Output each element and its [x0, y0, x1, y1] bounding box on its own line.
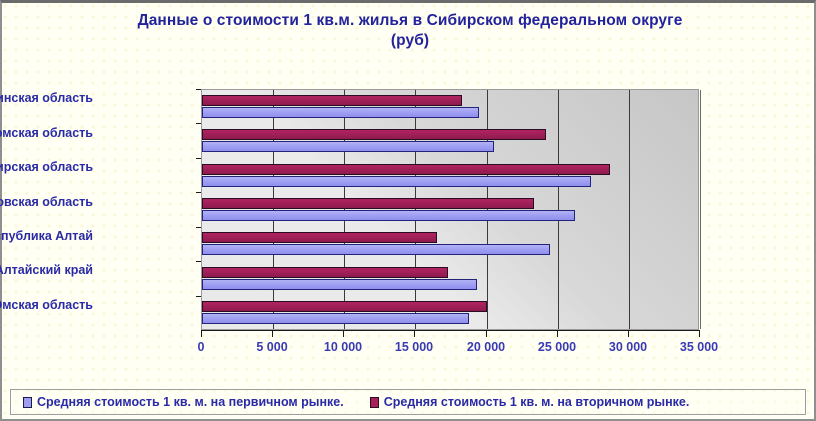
bar-secondary-1 — [202, 129, 546, 140]
category-tick — [196, 158, 201, 159]
chart-title: Данные о стоимости 1 кв.м. жилья в Сибир… — [2, 11, 816, 51]
bar-secondary-0 — [202, 95, 462, 106]
x-tick — [272, 330, 273, 337]
legend-item-primary: Средняя стоимость 1 кв. м. на первичном … — [23, 395, 344, 409]
category-tick — [196, 296, 201, 297]
x-tick — [201, 330, 202, 337]
category-label-text: Алтайский край — [0, 263, 93, 277]
x-tick — [628, 330, 629, 337]
x-tick-label-15000: 15 000 — [395, 340, 433, 354]
legend-swatch-secondary-icon — [370, 397, 379, 408]
category-tick — [196, 261, 201, 262]
x-tick-label-5000: 5 000 — [256, 340, 287, 354]
bar-primary-0 — [202, 107, 479, 118]
legend-item-secondary: Средняя стоимость 1 кв. м. на вторичном … — [370, 395, 690, 409]
category-tick — [196, 123, 201, 124]
category-label-text: Республика Алтай — [0, 229, 93, 243]
x-tick — [699, 330, 700, 337]
category-tick — [196, 227, 201, 228]
bar-secondary-6 — [202, 301, 487, 312]
bar-primary-1 — [202, 141, 494, 152]
x-tick-label-35000: 35 000 — [680, 340, 718, 354]
legend-label-primary: Средняя стоимость 1 кв. м. на первичном … — [37, 395, 344, 409]
legend-label-secondary: Средняя стоимость 1 кв. м. на вторичном … — [384, 395, 690, 409]
category-label-text: Новосибирская область — [0, 160, 93, 174]
category-label-text: Томская область — [0, 126, 93, 140]
x-tick — [414, 330, 415, 337]
chart-title-line-1: Данные о стоимости 1 кв.м. жилья в Сибир… — [2, 11, 816, 31]
x-tick — [557, 330, 558, 337]
category-label-text: Омская область — [0, 298, 93, 312]
category-tick — [196, 192, 201, 193]
gridline-30000 — [629, 90, 630, 329]
x-axis-line — [201, 330, 699, 331]
x-tick — [486, 330, 487, 337]
gridline-35000 — [700, 90, 701, 329]
bar-primary-6 — [202, 313, 469, 324]
x-tick-label-25000: 25 000 — [538, 340, 576, 354]
category-tick — [196, 89, 201, 90]
chart-title-line-2: (руб) — [2, 31, 816, 51]
bar-secondary-4 — [202, 232, 437, 243]
x-tick-label-20000: 20 000 — [467, 340, 505, 354]
x-tick-label-30000: 30 000 — [609, 340, 647, 354]
bar-primary-2 — [202, 176, 591, 187]
bar-secondary-5 — [202, 267, 448, 278]
x-tick-label-0: 0 — [198, 340, 205, 354]
x-tick-label-10000: 10 000 — [324, 340, 362, 354]
bar-primary-5 — [202, 279, 477, 290]
x-tick — [343, 330, 344, 337]
bar-secondary-2 — [202, 164, 610, 175]
chart-page: Данные о стоимости 1 кв.м. жилья в Сибир… — [0, 0, 816, 421]
bar-primary-3 — [202, 210, 575, 221]
plot-area — [201, 89, 699, 330]
category-label-text: Читинская область — [0, 91, 93, 105]
chart-legend: Средняя стоимость 1 кв. м. на первичном … — [10, 389, 806, 415]
bar-secondary-3 — [202, 198, 534, 209]
bar-primary-4 — [202, 244, 550, 255]
category-label-text: Кемеровская область — [0, 195, 93, 209]
legend-swatch-primary-icon — [23, 397, 32, 408]
